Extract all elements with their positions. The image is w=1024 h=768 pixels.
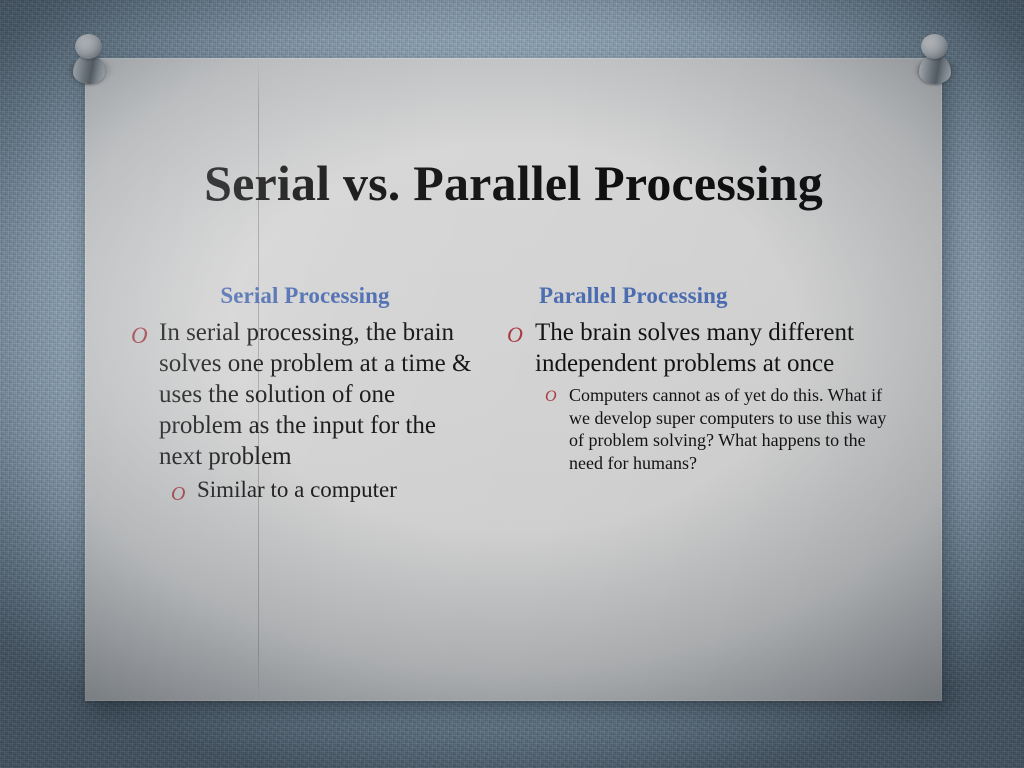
column-heading-serial: Serial Processing — [131, 283, 479, 309]
circle-bullet-icon: O — [545, 384, 569, 405]
pin-head — [75, 34, 102, 59]
circle-bullet-icon: O — [171, 476, 197, 504]
content-columns: Serial Processing O In serial processing… — [85, 283, 942, 505]
bullet-text: Computers cannot as of yet do this. What… — [569, 384, 893, 475]
column-serial-processing: Serial Processing O In serial processing… — [85, 283, 485, 505]
circle-bullet-icon: O — [131, 317, 159, 347]
bullet-text: Similar to a computer — [197, 476, 479, 505]
list-item: O Similar to a computer — [131, 476, 479, 505]
column-parallel-processing: Parallel Processing O The brain solves m… — [485, 283, 905, 475]
page-title: Serial vs. Parallel Processing — [85, 156, 942, 211]
bullet-text: In serial processing, the brain solves o… — [159, 317, 479, 472]
pin-head — [921, 34, 948, 59]
list-item: O The brain solves many different indepe… — [507, 317, 893, 379]
list-item: O Computers cannot as of yet do this. Wh… — [507, 384, 893, 475]
slide-paper: Serial vs. Parallel Processing Serial Pr… — [85, 58, 942, 701]
bullet-text: The brain solves many different independ… — [535, 317, 893, 379]
column-heading-parallel: Parallel Processing — [507, 283, 893, 309]
slide-backdrop: Serial vs. Parallel Processing Serial Pr… — [0, 0, 1024, 768]
list-item: O In serial processing, the brain solves… — [131, 317, 479, 472]
circle-bullet-icon: O — [507, 317, 535, 346]
